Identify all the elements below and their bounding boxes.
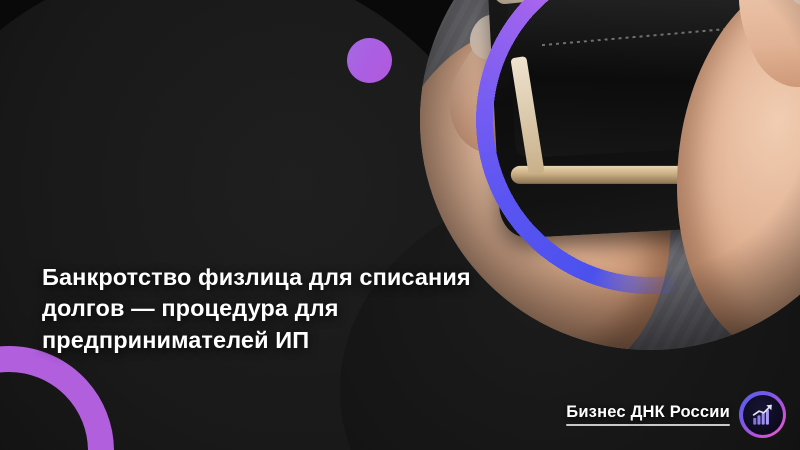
purple-ring-decoration bbox=[0, 346, 114, 450]
brand-logo[interactable] bbox=[739, 391, 786, 438]
brand-name: Бизнес ДНК России bbox=[566, 403, 730, 421]
brand-name-wrap: Бизнес ДНК России bbox=[566, 403, 730, 427]
brand-block[interactable]: Бизнес ДНК России bbox=[566, 391, 786, 438]
purple-dot-icon bbox=[347, 38, 392, 83]
growth-chart-arrow-icon bbox=[749, 401, 776, 428]
page-title: Банкротство физлица для списания долгов … bbox=[42, 262, 542, 356]
banner-card: Руки держат пустой чёрный кошелёк Банкро… bbox=[0, 0, 800, 450]
brand-underline bbox=[566, 424, 730, 427]
